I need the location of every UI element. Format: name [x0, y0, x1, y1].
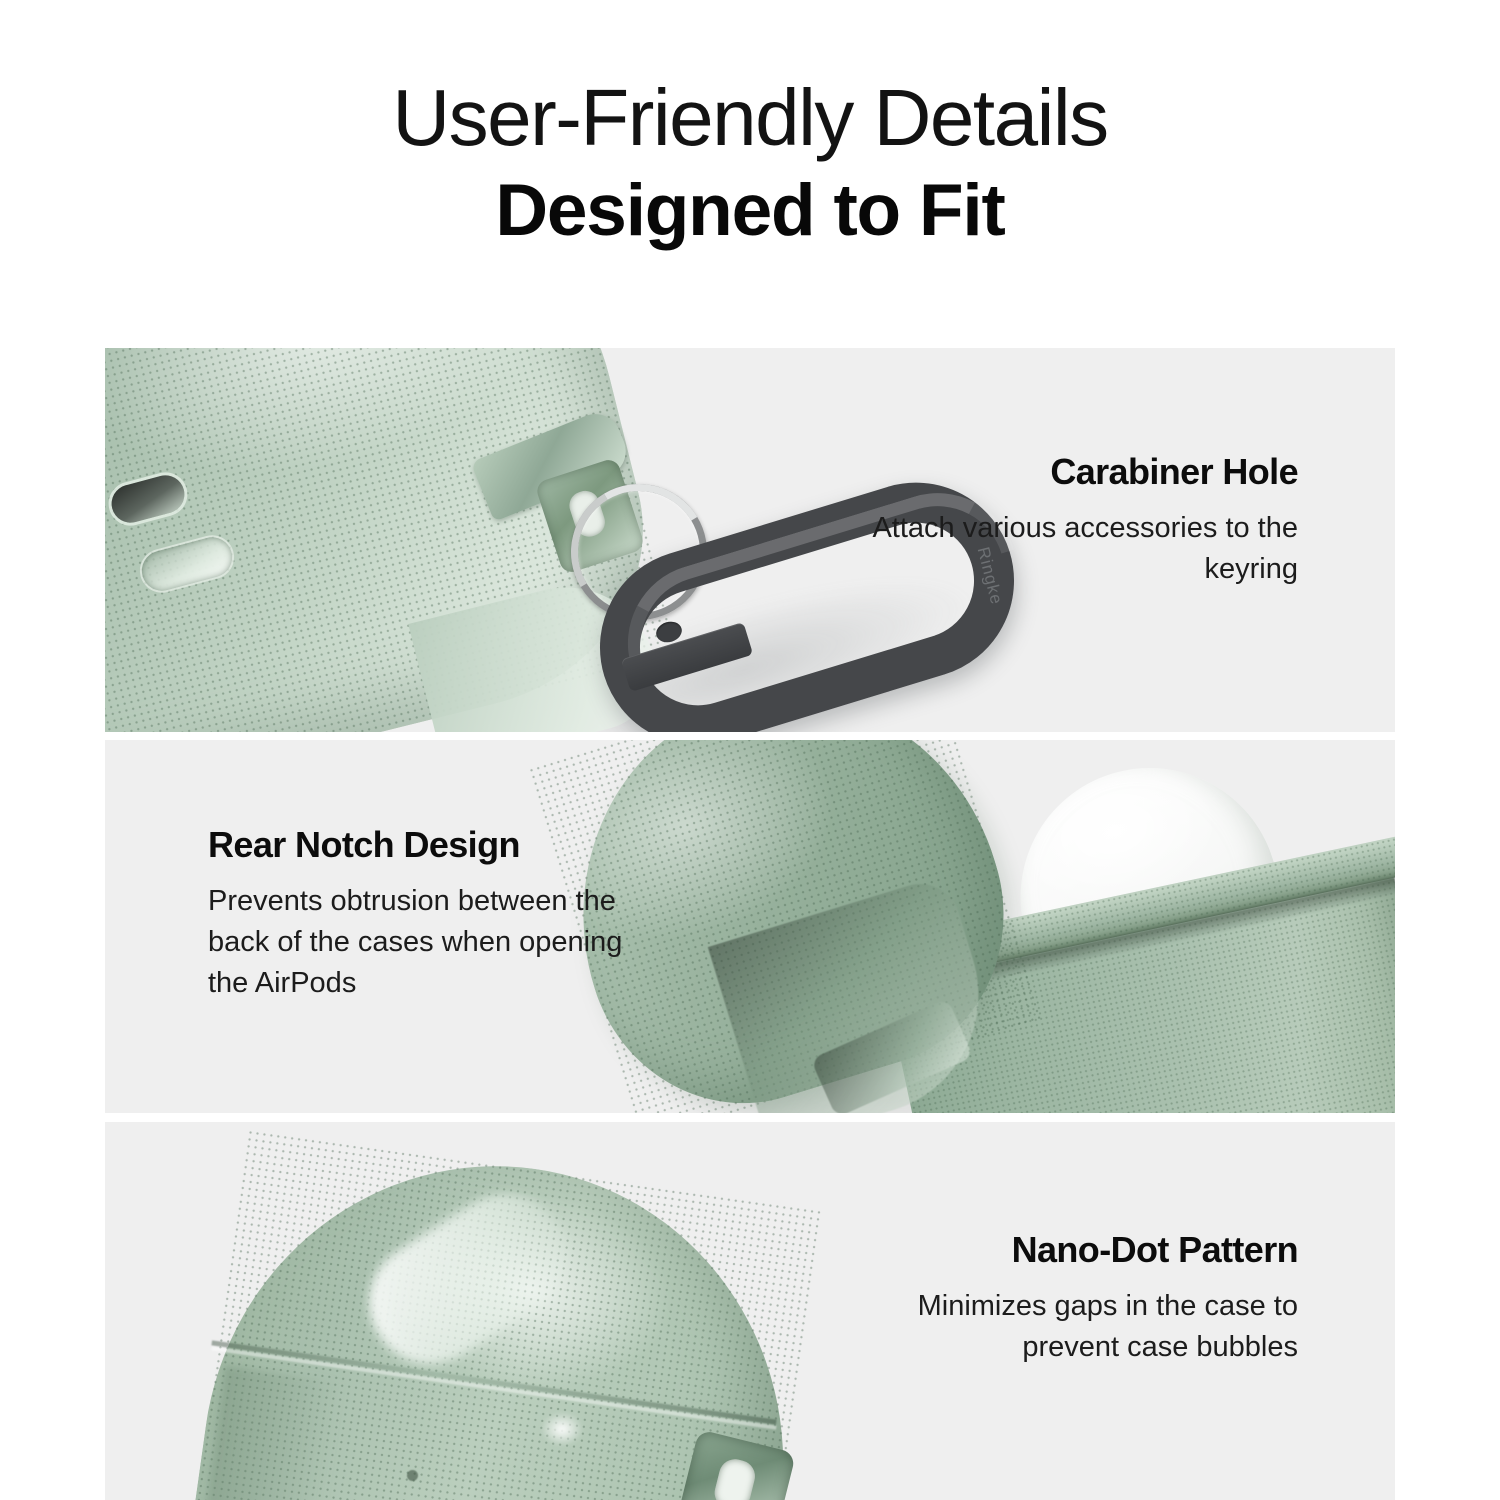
nano-dot-pattern-text-block: Nano-Dot Pattern Minimizes gaps in the c… — [868, 1230, 1298, 1368]
page-header: User-Friendly Details Designed to Fit — [0, 0, 1500, 254]
carabiner-hole-text-block: Carabiner Hole Attach various accessorie… — [828, 452, 1298, 590]
case-left-shading — [170, 1366, 345, 1500]
feature-panel-carabiner-hole: Ringke Carabiner Hole Attach various acc… — [105, 348, 1395, 732]
rear-notch-design-heading: Rear Notch Design — [208, 825, 638, 865]
page-title-line-1: User-Friendly Details — [0, 78, 1500, 158]
led-indicator-dot — [407, 1470, 418, 1481]
nano-dot-pattern-heading: Nano-Dot Pattern — [868, 1230, 1298, 1270]
feature-panel-rear-notch-design: Rear Notch Design Prevents obtrusion bet… — [105, 740, 1395, 1113]
case-secondary-highlight — [541, 1412, 583, 1446]
nano-dot-pattern-description: Minimizes gaps in the case to prevent ca… — [868, 1286, 1298, 1368]
feature-panel-nano-dot-pattern: Nano-Dot Pattern Minimizes gaps in the c… — [105, 1122, 1395, 1500]
carabiner-hole-description: Attach various accessories to the keyrin… — [828, 508, 1298, 590]
feature-panel-list: Ringke Carabiner Hole Attach various acc… — [105, 348, 1395, 1500]
page-title-line-2: Designed to Fit — [0, 168, 1500, 254]
carabiner-hole-heading: Carabiner Hole — [828, 452, 1298, 492]
rear-notch-design-text-block: Rear Notch Design Prevents obtrusion bet… — [208, 825, 638, 1004]
rear-notch-design-description: Prevents obtrusion between the back of t… — [208, 881, 638, 1005]
